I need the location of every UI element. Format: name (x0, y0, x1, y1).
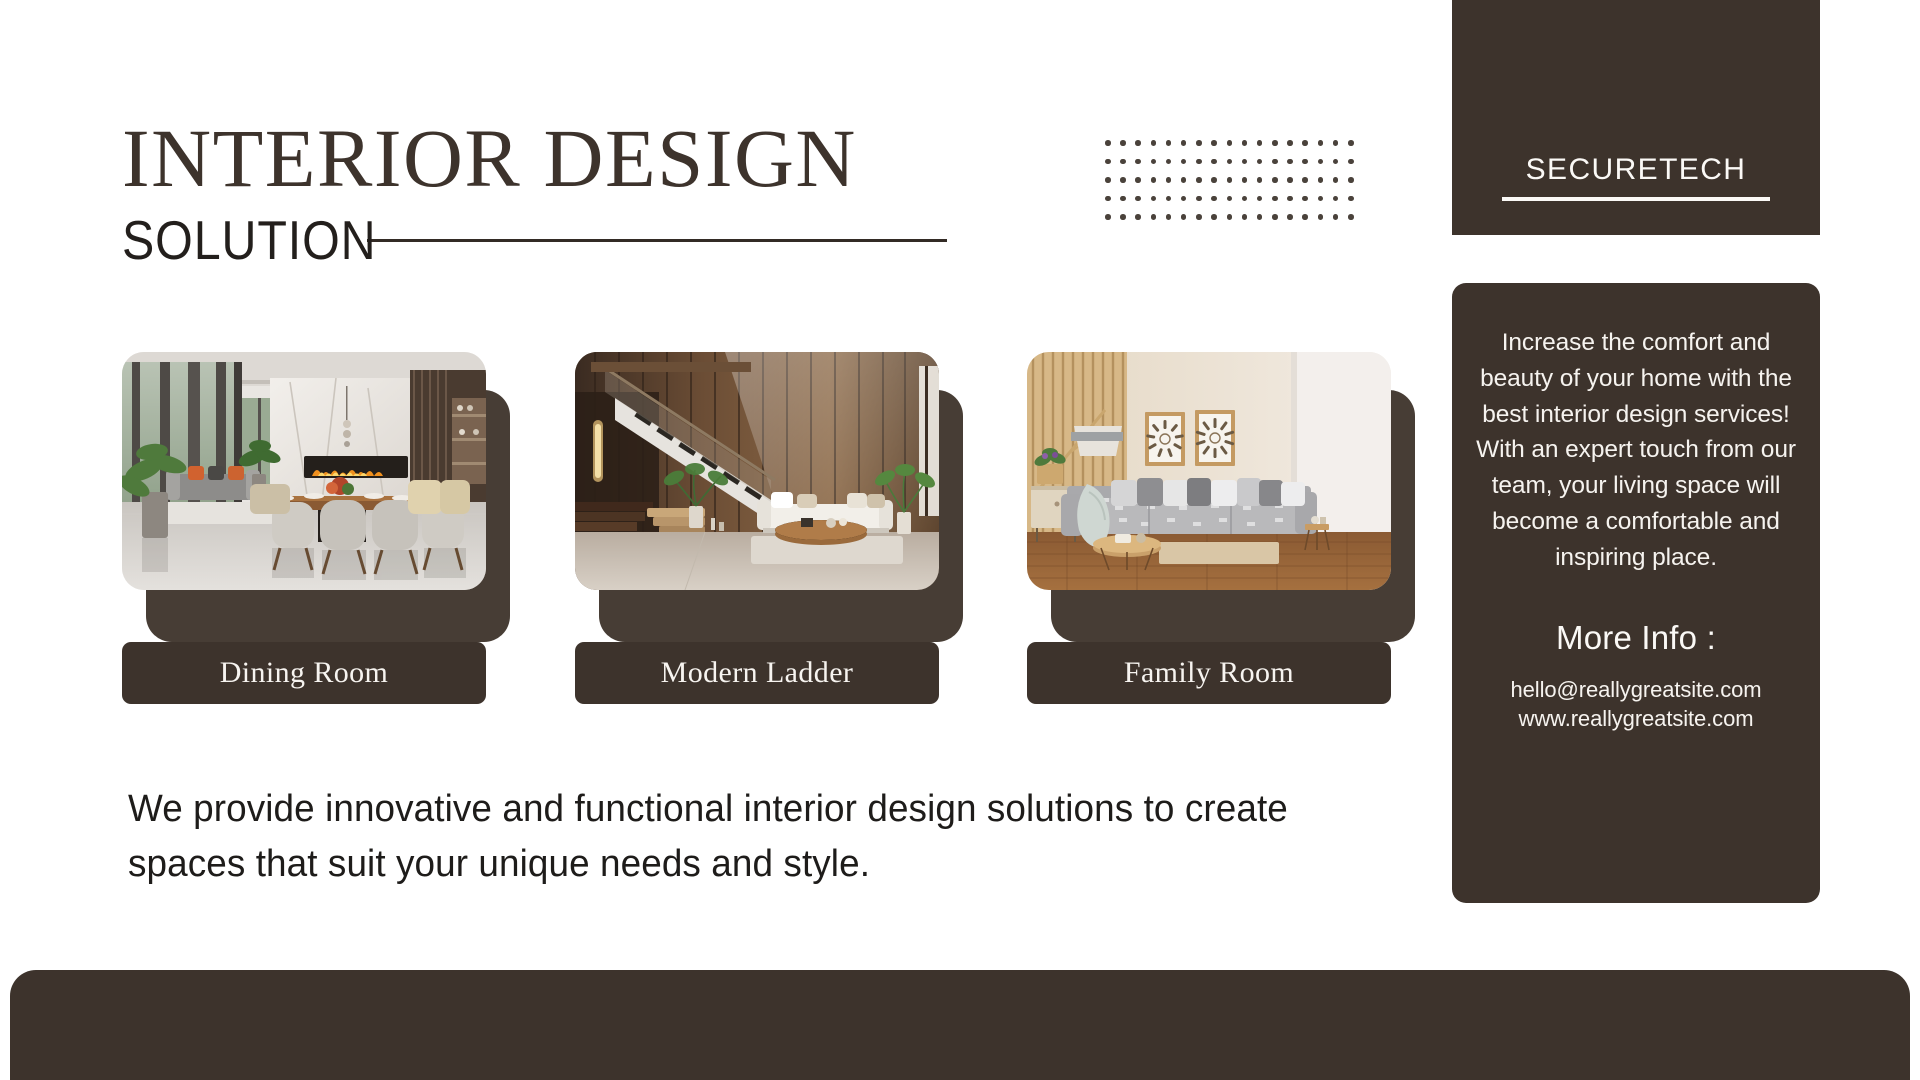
grid-dot (1105, 177, 1111, 183)
contact-block: hello@reallygreatsite.com www.reallygrea… (1511, 675, 1762, 733)
grid-dot (1227, 140, 1233, 146)
brand-name: SECURETECH (1526, 153, 1747, 187)
grid-dot (1348, 177, 1354, 183)
grid-dot (1272, 214, 1278, 220)
grid-dot (1302, 214, 1308, 220)
grid-dot (1181, 159, 1187, 165)
grid-dot (1287, 159, 1293, 165)
family-room-photo (1027, 352, 1391, 590)
grid-dot (1302, 159, 1308, 165)
grid-dot (1242, 214, 1248, 220)
grid-dot (1348, 214, 1354, 220)
grid-dot (1120, 177, 1126, 183)
grid-dot (1211, 177, 1217, 183)
grid-dot (1211, 159, 1217, 165)
grid-dot (1287, 196, 1293, 202)
grid-dot (1333, 177, 1339, 183)
page-title: INTERIOR DESIGN (122, 118, 1222, 199)
grid-dot (1166, 140, 1172, 146)
grid-dot (1272, 140, 1278, 146)
grid-dot (1181, 140, 1187, 146)
page-subtitle: SOLUTION (122, 213, 376, 268)
card-label-dining-room[interactable]: Dining Room (122, 642, 486, 704)
grid-dot (1105, 140, 1111, 146)
grid-dot (1242, 159, 1248, 165)
grid-dot (1227, 159, 1233, 165)
grid-dot (1227, 196, 1233, 202)
grid-dot (1151, 177, 1157, 183)
grid-dot (1181, 196, 1187, 202)
grid-dot (1120, 140, 1126, 146)
grid-dot (1272, 177, 1278, 183)
grid-dot (1348, 140, 1354, 146)
grid-dot (1272, 196, 1278, 202)
grid-dot (1302, 177, 1308, 183)
grid-dot (1120, 159, 1126, 165)
grid-dot (1257, 159, 1263, 165)
grid-dot (1318, 214, 1324, 220)
grid-dot (1196, 214, 1202, 220)
grid-dot (1272, 159, 1278, 165)
subtitle-row: SOLUTION (122, 213, 1072, 268)
grid-dot (1120, 196, 1126, 202)
grid-dot (1333, 214, 1339, 220)
info-paragraph: Increase the comfort and beauty of your … (1474, 325, 1798, 575)
grid-dot (1227, 214, 1233, 220)
grid-dot (1257, 196, 1263, 202)
grid-dot (1135, 159, 1141, 165)
contact-email[interactable]: hello@reallygreatsite.com (1511, 675, 1762, 704)
brand-underline (1502, 197, 1770, 201)
grid-dot (1120, 214, 1126, 220)
contact-website[interactable]: www.reallygreatsite.com (1511, 704, 1762, 733)
grid-dot (1135, 214, 1141, 220)
subtitle-divider (367, 239, 947, 242)
bottom-bar (10, 970, 1910, 1080)
grid-dot (1242, 177, 1248, 183)
grid-dot (1302, 140, 1308, 146)
card-label-family-room[interactable]: Family Room (1027, 642, 1391, 704)
info-panel: Increase the comfort and beauty of your … (1452, 283, 1820, 903)
grid-dot (1242, 140, 1248, 146)
grid-dot (1196, 140, 1202, 146)
grid-dot (1151, 196, 1157, 202)
lead-paragraph: We provide innovative and functional int… (128, 782, 1379, 893)
grid-dot (1211, 196, 1217, 202)
grid-dot (1166, 177, 1172, 183)
grid-dot (1227, 177, 1233, 183)
grid-dot (1181, 177, 1187, 183)
grid-dot (1257, 140, 1263, 146)
grid-dot (1318, 177, 1324, 183)
grid-dot (1196, 196, 1202, 202)
grid-dot (1242, 196, 1248, 202)
grid-dot (1318, 196, 1324, 202)
grid-dot (1318, 159, 1324, 165)
modern-ladder-photo (575, 352, 939, 590)
grid-dot (1257, 177, 1263, 183)
grid-dot (1257, 214, 1263, 220)
grid-dot (1166, 159, 1172, 165)
dining-room-photo (122, 352, 486, 590)
grid-dot (1166, 214, 1172, 220)
grid-dot (1333, 140, 1339, 146)
grid-dot (1151, 214, 1157, 220)
grid-dot (1135, 140, 1141, 146)
grid-dot (1166, 196, 1172, 202)
grid-dot (1287, 214, 1293, 220)
grid-dot (1333, 159, 1339, 165)
grid-dot (1318, 140, 1324, 146)
card-label-modern-ladder[interactable]: Modern Ladder (575, 642, 939, 704)
grid-dot (1135, 196, 1141, 202)
grid-dot (1348, 159, 1354, 165)
grid-dot (1105, 159, 1111, 165)
grid-dot (1105, 196, 1111, 202)
grid-dot (1151, 140, 1157, 146)
grid-dot (1302, 196, 1308, 202)
more-info-heading: More Info : (1556, 619, 1716, 657)
grid-dot (1333, 196, 1339, 202)
grid-dot (1211, 214, 1217, 220)
grid-dot (1181, 214, 1187, 220)
grid-dot (1151, 159, 1157, 165)
grid-dot (1196, 159, 1202, 165)
main-content: INTERIOR DESIGN SOLUTION (0, 0, 1452, 1080)
grid-dot (1196, 177, 1202, 183)
grid-dot (1287, 140, 1293, 146)
brand-panel: SECURETECH (1452, 0, 1820, 235)
grid-dot (1211, 140, 1217, 146)
dot-grid-decoration (1105, 140, 1363, 233)
grid-dot (1135, 177, 1141, 183)
room-cards: Dining Room (122, 352, 1432, 722)
title-block: INTERIOR DESIGN SOLUTION (122, 118, 1222, 268)
grid-dot (1105, 214, 1111, 220)
grid-dot (1348, 196, 1354, 202)
grid-dot (1287, 177, 1293, 183)
